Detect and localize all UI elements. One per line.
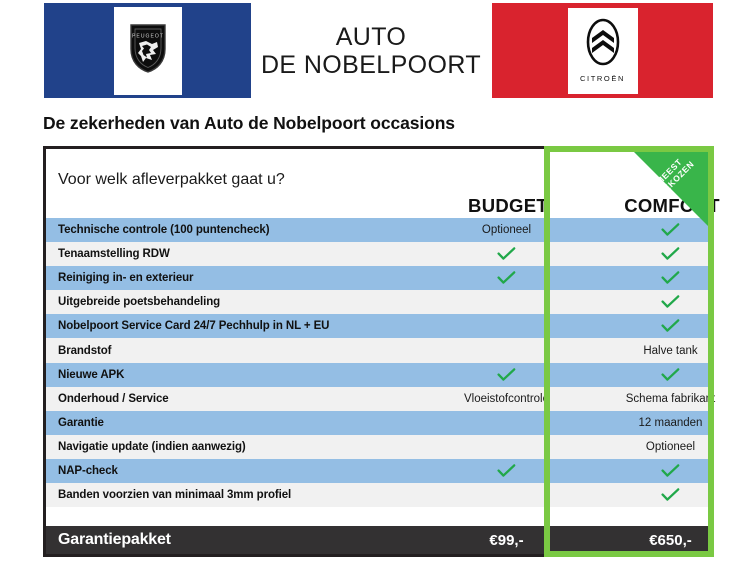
cell-comfort (588, 459, 753, 483)
check-icon (661, 464, 680, 478)
table-row: Uitgebreide poetsbehandeling (46, 290, 711, 314)
peugeot-lion-shield-icon: PEUGEOT (128, 22, 168, 79)
cell-comfort (588, 266, 753, 290)
citroen-wordmark: CITROËN (580, 74, 625, 83)
check-icon (661, 247, 680, 261)
table-rows: Technische controle (100 puntencheck)Opt… (46, 218, 711, 507)
cell-budget (425, 242, 588, 266)
table-footer-row: Garantiepakket €99,- €650,- (46, 526, 711, 554)
table-row: Tenaamstelling RDW (46, 242, 711, 266)
cell-budget: Vloeistofcontrole (425, 387, 588, 411)
table-row: Navigatie update (indien aanwezig)Option… (46, 435, 711, 459)
check-icon (661, 368, 680, 382)
peugeot-logo-tile: PEUGEOT (114, 7, 182, 95)
citroen-brand-panel: CITROËN (492, 3, 713, 98)
cell-budget (425, 338, 588, 362)
table-row: BrandstofHalve tank (46, 338, 711, 362)
footer-price-budget: €99,- (425, 526, 588, 554)
cell-comfort (588, 363, 753, 387)
table-header-band: Voor welk afleverpakket gaat u? BUDGET C… (46, 149, 711, 218)
cell-budget: Optioneel (425, 218, 588, 242)
row-label: Nobelpoort Service Card 24/7 Pechhulp in… (58, 320, 329, 332)
cell-comfort: Halve tank (588, 338, 753, 362)
check-icon (497, 271, 516, 285)
cell-budget (425, 314, 588, 338)
question-text: Voor welk afleverpakket gaat u? (58, 171, 285, 189)
table-row: Onderhoud / ServiceVloeistofcontroleSche… (46, 387, 711, 411)
dealer-wordmark: AUTO DE NOBELPOORT (255, 8, 487, 94)
table-row: Nobelpoort Service Card 24/7 Pechhulp in… (46, 314, 711, 338)
cell-comfort (588, 483, 753, 507)
cell-comfort (588, 242, 753, 266)
row-label: Navigatie update (indien aanwezig) (58, 441, 246, 453)
cell-budget (425, 483, 588, 507)
row-label: Brandstof (58, 345, 111, 357)
cell-comfort (588, 314, 753, 338)
svg-text:PEUGEOT: PEUGEOT (132, 34, 164, 40)
footer-label: Garantiepakket (58, 531, 171, 549)
check-icon (661, 271, 680, 285)
cell-budget (425, 435, 588, 459)
citroen-logo-tile: CITROËN (568, 8, 638, 94)
cell-budget (425, 411, 588, 435)
peugeot-brand-panel: PEUGEOT (44, 3, 251, 98)
page-title: De zekerheden van Auto de Nobelpoort occ… (43, 113, 455, 134)
row-label: Uitgebreide poetsbehandeling (58, 296, 220, 308)
footer-price-comfort: €650,- (588, 526, 753, 554)
table-row: Banden voorzien van minimaal 3mm profiel (46, 483, 711, 507)
cell-budget (425, 459, 588, 483)
cell-comfort: Optioneel (588, 435, 753, 459)
table-row: NAP-check (46, 459, 711, 483)
table-row: Nieuwe APK (46, 363, 711, 387)
brand-banner: PEUGEOT AUTO DE NOBELPOORT CITROËN (0, 0, 756, 100)
cell-comfort (588, 290, 753, 314)
check-icon (497, 247, 516, 261)
table-row: Technische controle (100 puntencheck)Opt… (46, 218, 711, 242)
table-row: Garantie12 maanden (46, 411, 711, 435)
wordmark-line-2: DE NOBELPOORT (261, 51, 481, 79)
row-label: NAP-check (58, 465, 118, 477)
row-label: Garantie (58, 417, 104, 429)
cell-comfort: 12 maanden (588, 411, 753, 435)
check-icon (497, 368, 516, 382)
check-icon (661, 488, 680, 502)
wordmark-line-1: AUTO (336, 23, 407, 51)
row-label: Onderhoud / Service (58, 393, 169, 405)
row-label: Reiniging in- en exterieur (58, 272, 193, 284)
package-comparison-table: Voor welk afleverpakket gaat u? BUDGET C… (43, 146, 714, 557)
row-label: Technische controle (100 puntencheck) (58, 224, 269, 236)
row-label: Nieuwe APK (58, 369, 124, 381)
citroen-chevrons-icon (583, 18, 623, 71)
cell-budget (425, 363, 588, 387)
cell-budget (425, 290, 588, 314)
check-icon (661, 319, 680, 333)
row-label: Tenaamstelling RDW (58, 248, 170, 260)
meest-gekozen-badge: MEEST GEKOZEN (634, 152, 708, 226)
check-icon (497, 464, 516, 478)
check-icon (661, 295, 680, 309)
column-header-budget: BUDGET (428, 195, 588, 217)
table-row: Reiniging in- en exterieur (46, 266, 711, 290)
row-label: Banden voorzien van minimaal 3mm profiel (58, 489, 291, 501)
cell-comfort: Schema fabrikant (588, 387, 753, 411)
cell-budget (425, 266, 588, 290)
